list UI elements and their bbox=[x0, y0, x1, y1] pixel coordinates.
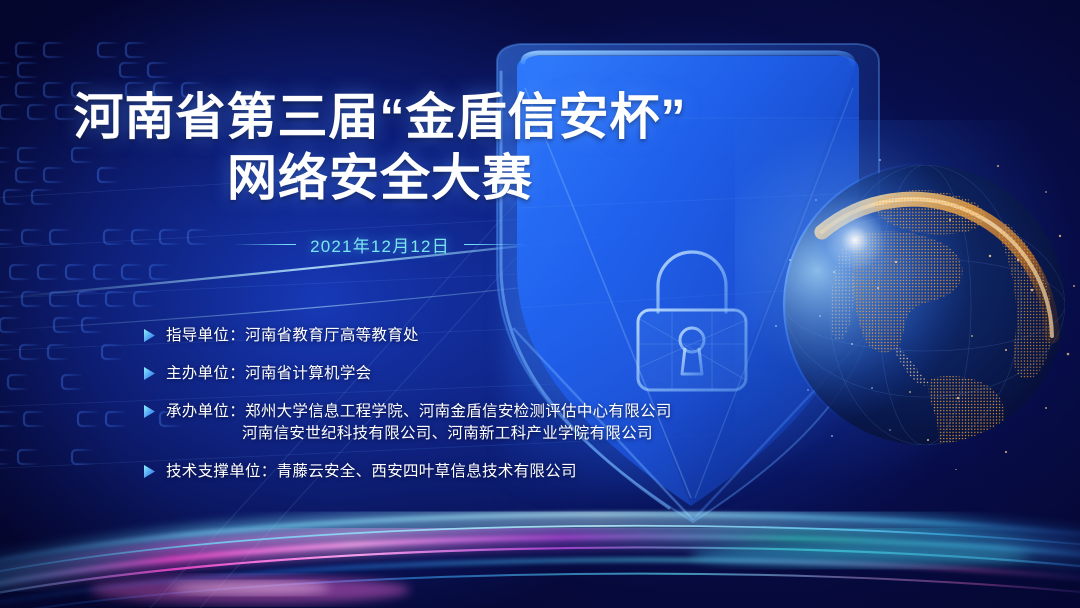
triangle-right-icon bbox=[143, 404, 156, 419]
credit-text: 主办单位：河南省计算机学会 bbox=[166, 363, 371, 385]
date-rule-right bbox=[464, 244, 526, 245]
title-line-2: 网络安全大赛 bbox=[0, 149, 760, 208]
title-line-1: 河南省第三届“金盾信安杯” bbox=[0, 88, 760, 147]
credit-text: 指导单位：河南省教育厅高等教育处 bbox=[166, 325, 419, 347]
credit-continuation: 河南信安世纪科技有限公司、河南新工科产业学院有限公司 bbox=[166, 423, 672, 445]
credit-label: 主办单位： bbox=[166, 365, 245, 382]
credit-label: 技术支撑单位： bbox=[166, 463, 277, 480]
credit-value: 河南省教育厅高等教育处 bbox=[245, 327, 419, 344]
page-title: 河南省第三届“金盾信安杯” 网络安全大赛 bbox=[0, 88, 760, 208]
triangle-right-icon bbox=[143, 328, 156, 343]
credit-label: 承办单位： bbox=[166, 403, 245, 420]
credits-list: 指导单位：河南省教育厅高等教育处 主办单位：河南省计算机学会 承办单位：郑州大学… bbox=[143, 325, 763, 483]
credit-value: 郑州大学信息工程学院、河南金盾信安检测评估中心有限公司 bbox=[245, 403, 672, 420]
date-text: 2021年12月12日 bbox=[310, 232, 450, 257]
date-rule-left bbox=[234, 244, 296, 245]
event-date: 2021年12月12日 bbox=[0, 232, 760, 257]
poster-canvas: 河南省第三届“金盾信安杯” 网络安全大赛 2021年12月12日 指导单位：河南… bbox=[0, 0, 1080, 608]
credit-row: 主办单位：河南省计算机学会 bbox=[143, 363, 763, 385]
triangle-right-icon bbox=[143, 464, 156, 479]
credit-value: 河南省计算机学会 bbox=[245, 365, 371, 382]
triangle-right-icon bbox=[143, 366, 156, 381]
credit-row: 承办单位：郑州大学信息工程学院、河南金盾信安检测评估中心有限公司 河南信安世纪科… bbox=[143, 401, 763, 445]
credit-row: 技术支撑单位：青藤云安全、西安四叶草信息技术有限公司 bbox=[143, 461, 763, 483]
credit-text: 技术支撑单位：青藤云安全、西安四叶草信息技术有限公司 bbox=[166, 461, 577, 483]
credit-row: 指导单位：河南省教育厅高等教育处 bbox=[143, 325, 763, 347]
credit-text: 承办单位：郑州大学信息工程学院、河南金盾信安检测评估中心有限公司 河南信安世纪科… bbox=[166, 401, 672, 445]
credit-label: 指导单位： bbox=[166, 327, 245, 344]
credit-value: 青藤云安全、西安四叶草信息技术有限公司 bbox=[277, 463, 577, 480]
